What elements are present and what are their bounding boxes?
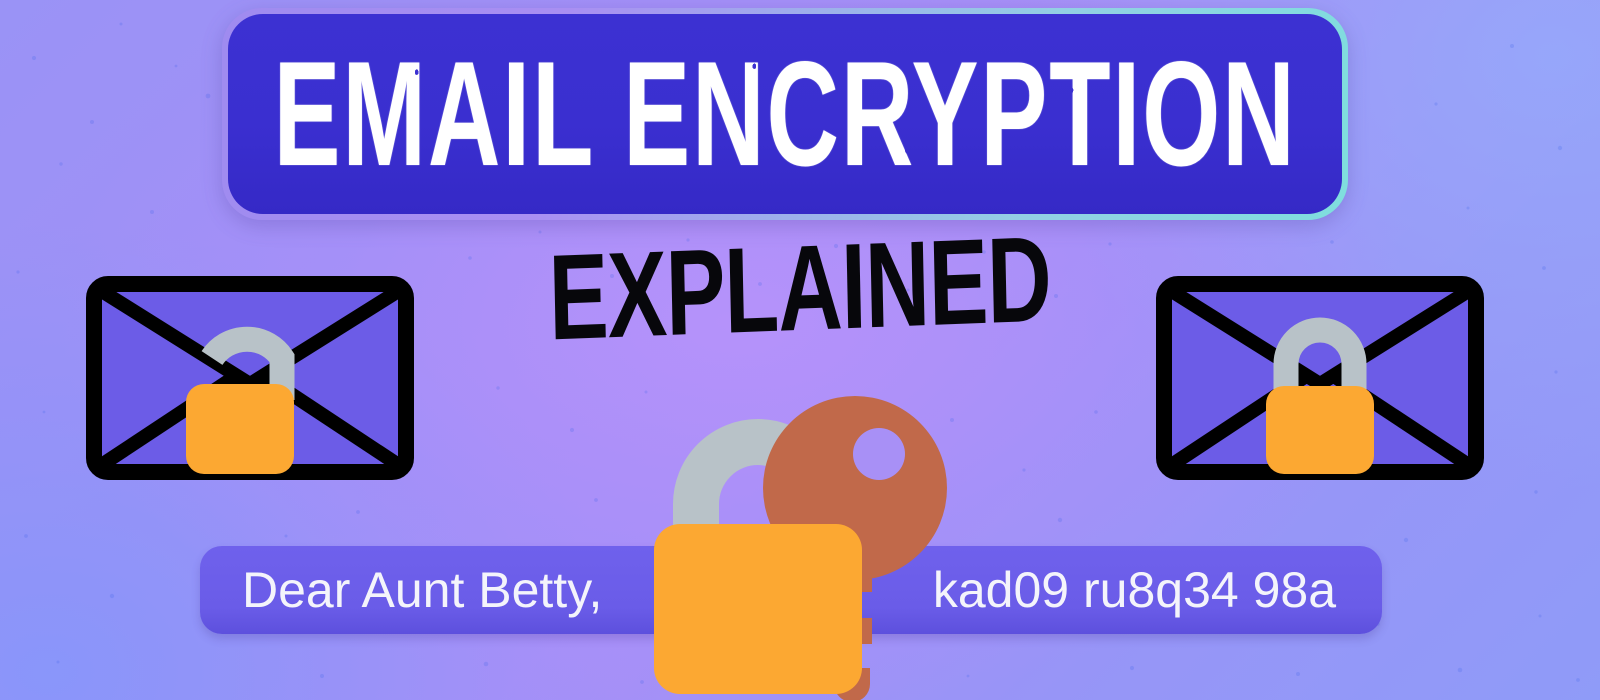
title-banner: EMAIL ENCRYPTION [222,8,1348,220]
center-lock-and-key [640,392,940,700]
title-banner-inner: EMAIL ENCRYPTION [228,14,1342,214]
ciphertext-message: kad09 ru8q34 98a [933,565,1336,615]
padlock-body [654,524,862,694]
padlock-body [1266,386,1374,474]
page-subtitle: EXPLAINED [548,219,1052,359]
padlock-body [186,384,294,474]
poster-canvas: EMAIL ENCRYPTION EXPLAINED [0,0,1600,700]
envelope-unlocked-icon [86,276,414,480]
envelope-locked-icon [1156,276,1484,480]
page-title: EMAIL ENCRYPTION [273,39,1296,188]
plaintext-message: Dear Aunt Betty, [242,565,602,615]
